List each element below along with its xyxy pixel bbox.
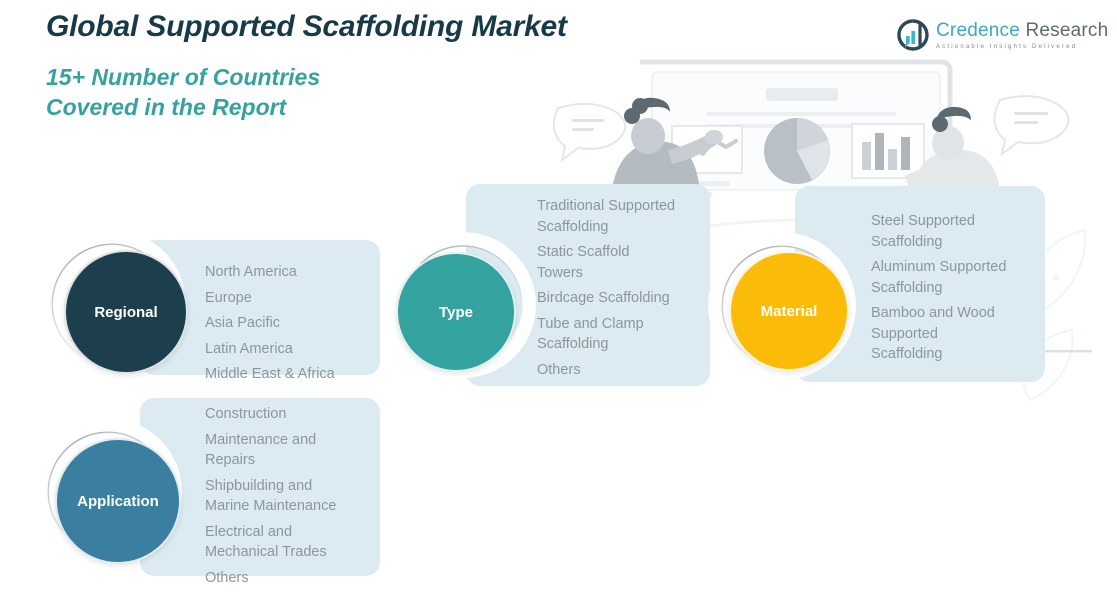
segment-label-regional: Regional — [94, 304, 157, 321]
list-item: Latin America — [205, 339, 380, 360]
logo-name-credence: Credence — [936, 20, 1020, 41]
list-item: Tube and Clamp Scaffolding — [537, 314, 717, 355]
panel-list-regional: North America Europe Asia Pacific Latin … — [205, 262, 380, 385]
segment-label-application: Application — [77, 493, 159, 510]
list-item: Steel Supported Scaffolding — [871, 211, 1049, 252]
list-item: Others — [537, 360, 717, 381]
segment-label-type: Type — [439, 304, 473, 321]
page-title: Global Supported Scaffolding Market — [46, 10, 567, 44]
list-item: Asia Pacific — [205, 313, 380, 334]
segment-bubble-material[interactable]: Material — [729, 251, 849, 371]
credence-research-logo[interactable]: Credence Research Actionable Insights De… — [897, 17, 1079, 53]
list-item: Europe — [205, 288, 380, 309]
logo-text: Credence Research Actionable Insights De… — [936, 21, 1108, 50]
list-item: Bamboo and Wood Supported Scaffolding — [871, 303, 1049, 365]
logo-name: Credence Research — [936, 21, 1108, 40]
panel-list-material: Steel Supported Scaffolding Aluminum Sup… — [871, 211, 1049, 365]
page-subtitle: 15+ Number of Countries Covered in the R… — [46, 62, 320, 123]
segment-bubble-type[interactable]: Type — [396, 252, 516, 372]
pie-chart-icon — [764, 118, 830, 184]
logo-tagline: Actionable Insights Delivered — [936, 44, 1108, 50]
speech-bubble-left-icon — [554, 104, 625, 160]
list-item: Shipbuilding and Marine Maintenance — [205, 476, 385, 517]
presentation-board — [642, 62, 950, 190]
list-item: Others — [205, 568, 385, 589]
list-item: Static Scaffold Towers — [537, 242, 717, 283]
list-item: Middle East & Africa — [205, 364, 380, 385]
line-chart-card-left — [672, 126, 742, 173]
presenter-figure-right — [905, 107, 1000, 190]
list-item: Construction — [205, 404, 385, 425]
list-item: Maintenance and Repairs — [205, 430, 385, 471]
bar-chart-card-right — [852, 124, 924, 178]
list-item: Electrical and Mechanical Trades — [205, 522, 385, 563]
list-item: Aluminum Supported Scaffolding — [871, 257, 1049, 298]
panel-list-type: Traditional Supported Scaffolding Static… — [537, 196, 717, 381]
segment-bubble-regional[interactable]: Regional — [64, 250, 188, 374]
infographic-page: Global Supported Scaffolding Market 15+ … — [0, 0, 1117, 601]
bar-chart-circle-icon — [897, 19, 929, 51]
list-item: Birdcage Scaffolding — [537, 288, 717, 309]
segment-bubble-application[interactable]: Application — [55, 438, 181, 564]
logo-name-research: Research — [1025, 20, 1108, 41]
panel-list-application: Construction Maintenance and Repairs Shi… — [205, 404, 385, 589]
list-item: North America — [205, 262, 380, 283]
list-item: Traditional Supported Scaffolding — [537, 196, 717, 237]
segment-label-material: Material — [761, 303, 818, 320]
speech-bubble-right-icon — [995, 96, 1069, 154]
